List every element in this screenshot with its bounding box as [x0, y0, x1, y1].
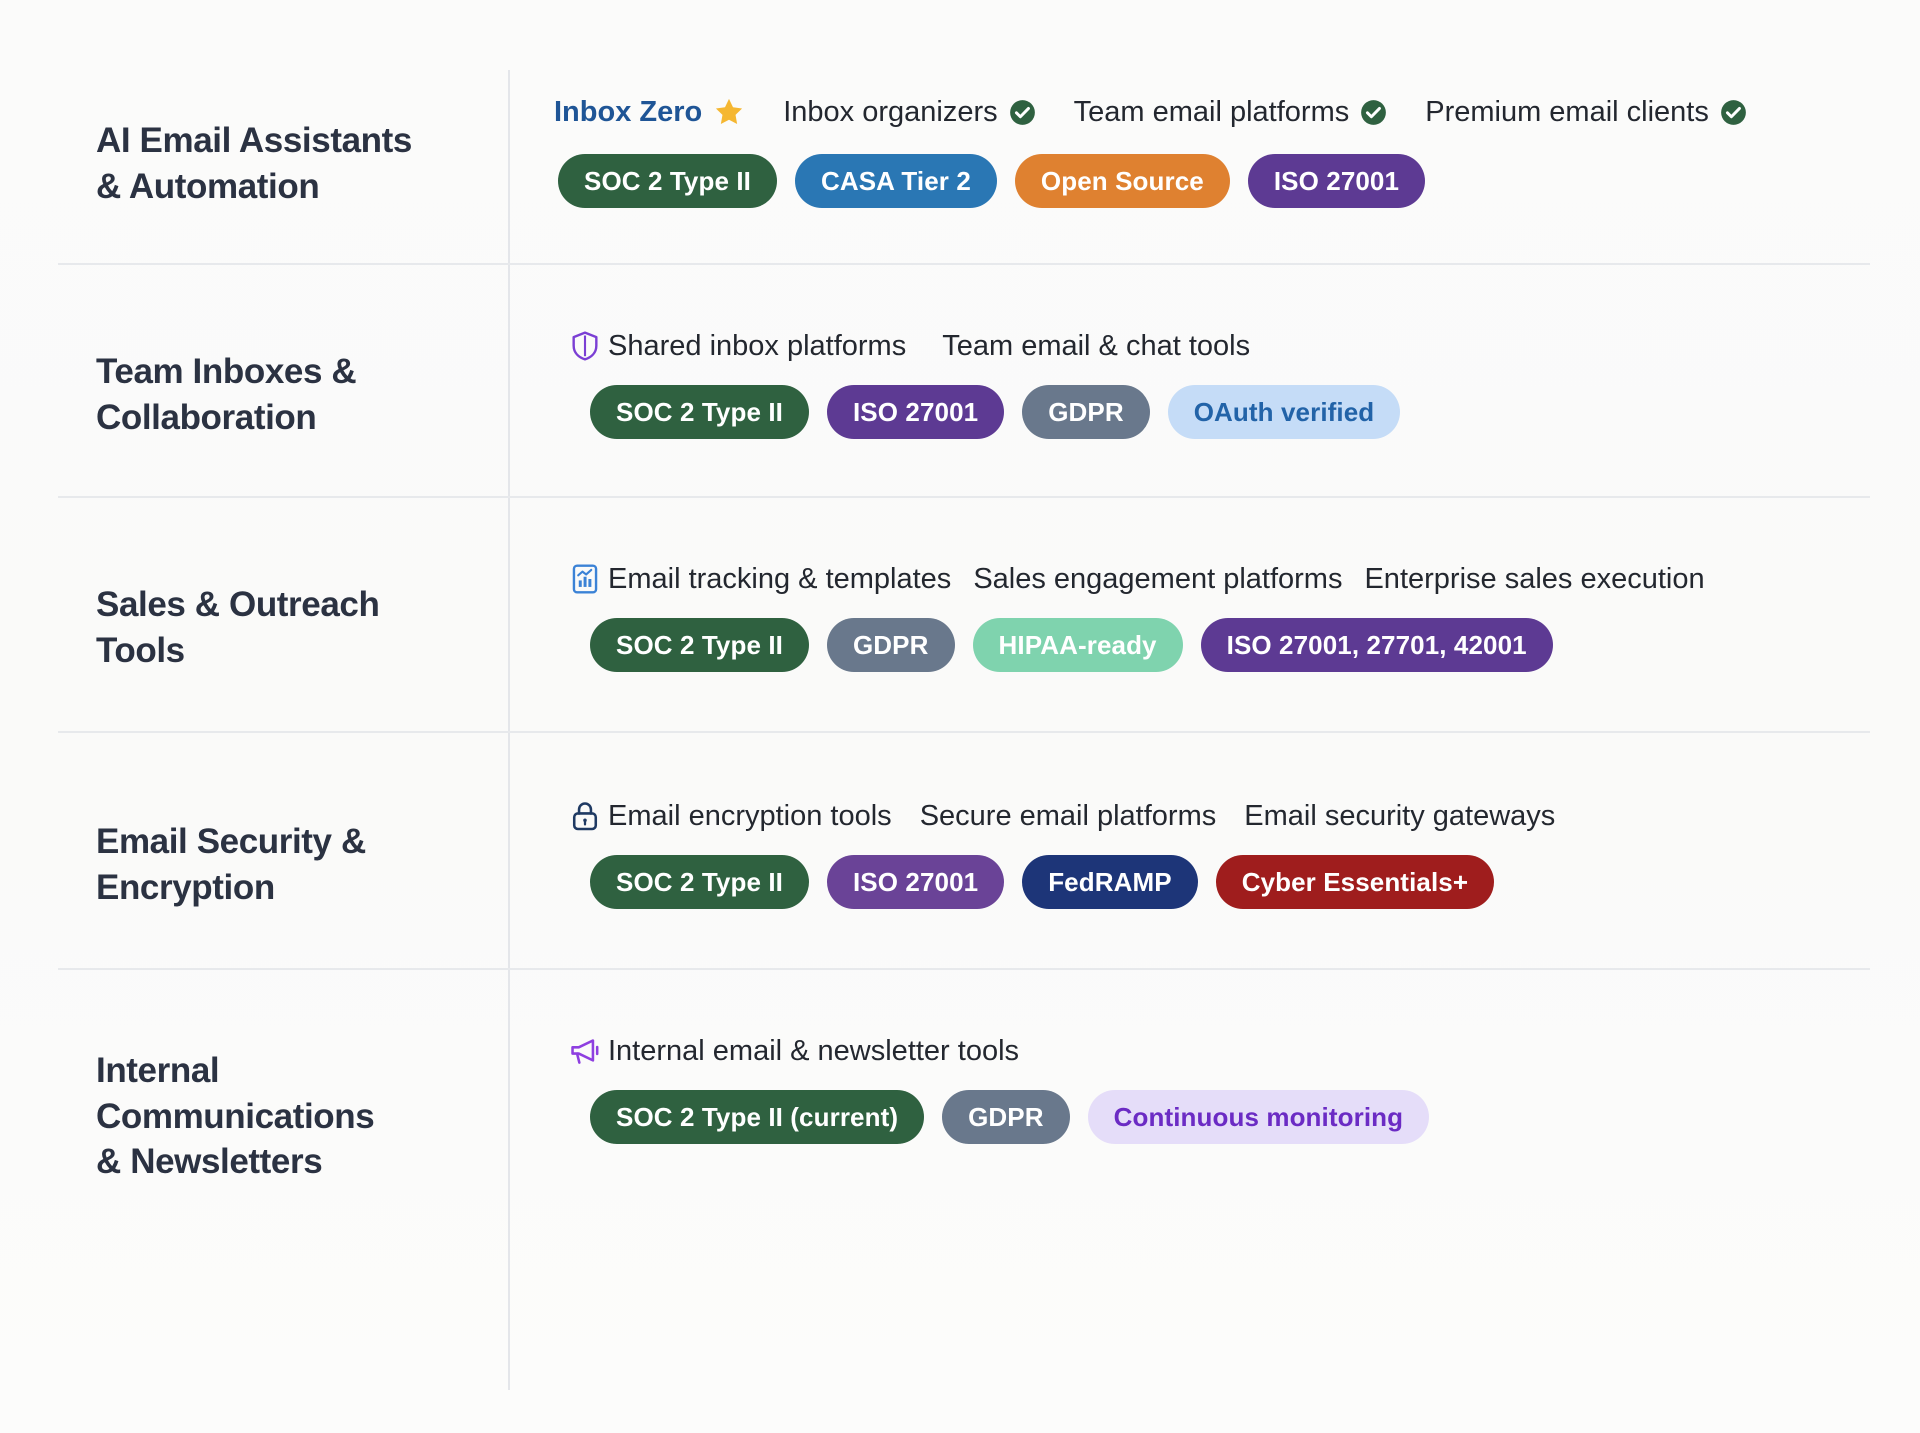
tool-list: Email encryption toolsSecure email platf… — [568, 799, 1880, 833]
tool-label: Email security gateways — [1244, 802, 1555, 831]
tool-item[interactable]: Email security gateways — [1244, 802, 1555, 831]
compliance-badge[interactable]: SOC 2 Type II — [558, 154, 777, 208]
compliance-badge-list: SOC 2 Type II (current)GDPRContinuous mo… — [568, 1090, 1880, 1144]
tool-item[interactable]: Email encryption tools — [608, 802, 892, 831]
row-divider — [58, 496, 1870, 498]
compliance-badge[interactable]: ISO 27001 — [827, 855, 1004, 909]
compliance-badge[interactable]: GDPR — [942, 1090, 1070, 1144]
chart-document-icon — [568, 562, 602, 596]
check-circle-icon — [1720, 99, 1747, 126]
category-title: AI Email Assistants & Automation — [96, 118, 478, 209]
tool-item[interactable]: Enterprise sales execution — [1364, 565, 1704, 594]
tool-label: Email tracking & templates — [608, 565, 951, 594]
category-cell: Email Security & Encryption — [0, 799, 508, 910]
compliance-badge-list: SOC 2 Type IIGDPRHIPAA-readyISO 27001, 2… — [568, 618, 1880, 672]
category-row: Internal Communications & NewslettersInt… — [0, 968, 1920, 1245]
category-content: Internal email & newsletter toolsSOC 2 T… — [508, 1034, 1920, 1144]
tool-list: Email tracking & templatesSales engageme… — [568, 562, 1880, 596]
tool-label: Sales engagement platforms — [973, 565, 1342, 594]
category-title: Internal Communications & Newsletters — [96, 1048, 478, 1185]
category-title: Email Security & Encryption — [96, 819, 478, 910]
tool-label: Premium email clients — [1425, 98, 1709, 127]
tool-item[interactable]: Shared inbox platforms — [608, 332, 906, 361]
tool-item[interactable]: Team email & chat tools — [942, 332, 1250, 361]
category-row: Team Inboxes & CollaborationShared inbox… — [0, 263, 1920, 496]
category-row: Email Security & EncryptionEmail encrypt… — [0, 731, 1920, 968]
compliance-badge[interactable]: GDPR — [1022, 385, 1150, 439]
compliance-badge-list: SOC 2 Type IIISO 27001FedRAMPCyber Essen… — [568, 855, 1880, 909]
compliance-badge[interactable]: SOC 2 Type II — [590, 618, 809, 672]
tool-label: Team email platforms — [1074, 98, 1350, 127]
compliance-badge[interactable]: CASA Tier 2 — [795, 154, 997, 208]
category-content: Shared inbox platformsTeam email & chat … — [508, 329, 1920, 439]
check-circle-icon — [1360, 99, 1387, 126]
tool-label: Team email & chat tools — [942, 332, 1250, 361]
tool-label: Enterprise sales execution — [1364, 565, 1704, 594]
tool-item[interactable]: Internal email & newsletter tools — [608, 1037, 1019, 1066]
compliance-badge[interactable]: Cyber Essentials+ — [1216, 855, 1494, 909]
check-circle-icon — [1009, 99, 1036, 126]
category-content: Inbox ZeroInbox organizersTeam email pla… — [508, 96, 1920, 208]
row-divider — [58, 263, 1870, 265]
shield-icon — [568, 329, 602, 363]
compliance-badge[interactable]: Open Source — [1015, 154, 1230, 208]
tool-label: Inbox organizers — [783, 98, 997, 127]
tool-item[interactable]: Email tracking & templates — [608, 565, 951, 594]
tool-list: Internal email & newsletter tools — [568, 1034, 1880, 1068]
category-cell: Sales & Outreach Tools — [0, 562, 508, 673]
tool-list: Shared inbox platformsTeam email & chat … — [568, 329, 1880, 363]
tool-label: Secure email platforms — [920, 802, 1217, 831]
row-divider — [58, 968, 1870, 970]
category-cell: AI Email Assistants & Automation — [0, 96, 508, 209]
category-title: Sales & Outreach Tools — [96, 582, 478, 673]
compliance-badge[interactable]: Continuous monitoring — [1088, 1090, 1429, 1144]
compliance-badge[interactable]: SOC 2 Type II — [590, 855, 809, 909]
category-cell: Team Inboxes & Collaboration — [0, 329, 508, 440]
lock-icon — [568, 799, 602, 833]
tool-item[interactable]: Premium email clients — [1425, 98, 1747, 127]
compliance-badge[interactable]: SOC 2 Type II — [590, 385, 809, 439]
compliance-badge[interactable]: HIPAA-ready — [973, 618, 1183, 672]
category-row-list: AI Email Assistants & AutomationInbox Ze… — [0, 0, 1920, 1245]
comparison-matrix: AI Email Assistants & AutomationInbox Ze… — [0, 0, 1920, 1433]
tool-label: Email encryption tools — [608, 802, 892, 831]
compliance-badge[interactable]: ISO 27001 — [1248, 154, 1425, 208]
category-content: Email encryption toolsSecure email platf… — [508, 799, 1920, 909]
tool-item[interactable]: Secure email platforms — [920, 802, 1217, 831]
category-title: Team Inboxes & Collaboration — [96, 349, 478, 440]
megaphone-icon — [568, 1034, 602, 1068]
tool-item[interactable]: Sales engagement platforms — [973, 565, 1342, 594]
compliance-badge[interactable]: SOC 2 Type II (current) — [590, 1090, 924, 1144]
tool-label: Internal email & newsletter tools — [608, 1037, 1019, 1066]
compliance-badge[interactable]: OAuth verified — [1168, 385, 1401, 439]
tool-item[interactable]: Team email platforms — [1074, 98, 1388, 127]
category-content: Email tracking & templatesSales engageme… — [508, 562, 1920, 672]
tool-label: Inbox Zero — [554, 98, 702, 127]
compliance-badge-list: SOC 2 Type IICASA Tier 2Open SourceISO 2… — [554, 154, 1880, 208]
compliance-badge[interactable]: ISO 27001, 27701, 42001 — [1201, 618, 1553, 672]
tool-item[interactable]: Inbox organizers — [783, 98, 1035, 127]
tool-list: Inbox ZeroInbox organizersTeam email pla… — [554, 96, 1880, 128]
featured-tool-item[interactable]: Inbox Zero — [554, 96, 745, 128]
category-row: AI Email Assistants & AutomationInbox Ze… — [0, 0, 1920, 263]
tool-label: Shared inbox platforms — [608, 332, 906, 361]
compliance-badge[interactable]: GDPR — [827, 618, 955, 672]
row-divider — [58, 731, 1870, 733]
compliance-badge-list: SOC 2 Type IIISO 27001GDPROAuth verified — [568, 385, 1880, 439]
compliance-badge[interactable]: FedRAMP — [1022, 855, 1197, 909]
category-cell: Internal Communications & Newsletters — [0, 1034, 508, 1185]
star-icon — [713, 96, 745, 128]
compliance-badge[interactable]: ISO 27001 — [827, 385, 1004, 439]
category-row: Sales & Outreach ToolsEmail tracking & t… — [0, 496, 1920, 731]
